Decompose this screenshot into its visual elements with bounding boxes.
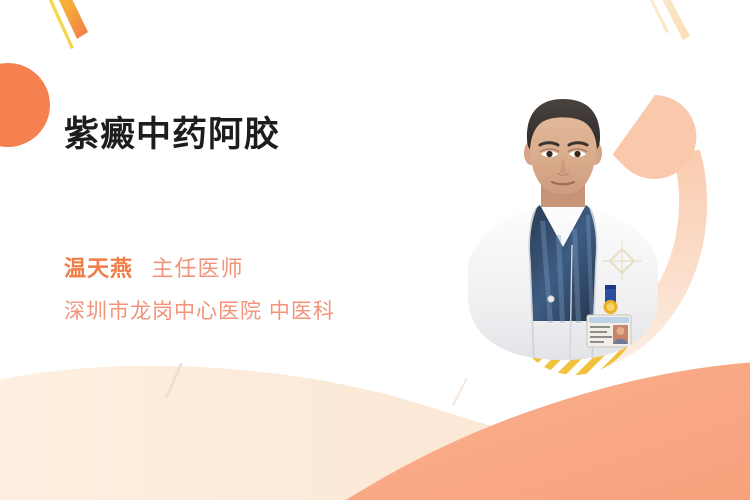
cream-diagonal-stripe (652, 0, 690, 40)
yellow-diagonal-line (35, 0, 74, 49)
orange-circle-left (0, 63, 50, 147)
hospital-id-badge (587, 315, 631, 347)
doctor-name: 温天燕 (64, 256, 133, 281)
faint-diagonal-mark-right (452, 378, 468, 406)
doctor-line: 温天燕 主任医师 (64, 254, 444, 287)
text-block: 紫癜中药阿胶 温天燕 主任医师 深圳市龙岗中心医院 中医科 (64, 112, 444, 327)
cream-diagonal-line (640, 0, 669, 33)
orange-diagonal-stripe (45, 0, 88, 39)
salmon-wave-back (380, 378, 750, 500)
doctor-intro-card: 紫癜中药阿胶 温天燕 主任医师 深圳市龙岗中心医院 中医科 (0, 0, 750, 500)
page-title: 紫癜中药阿胶 (64, 112, 444, 158)
doctor-title: 主任医师 (151, 256, 243, 281)
cream-wave-bottom-left (0, 366, 750, 500)
doctor-hospital: 深圳市龙岗中心医院 中医科 (64, 297, 444, 327)
coat-button (548, 296, 554, 302)
faint-diagonal-mark-left (165, 363, 183, 398)
salmon-wave-bottom-right (330, 362, 750, 500)
doctor-portrait (448, 95, 678, 360)
gold-medal-ribbon-pin (604, 285, 618, 314)
